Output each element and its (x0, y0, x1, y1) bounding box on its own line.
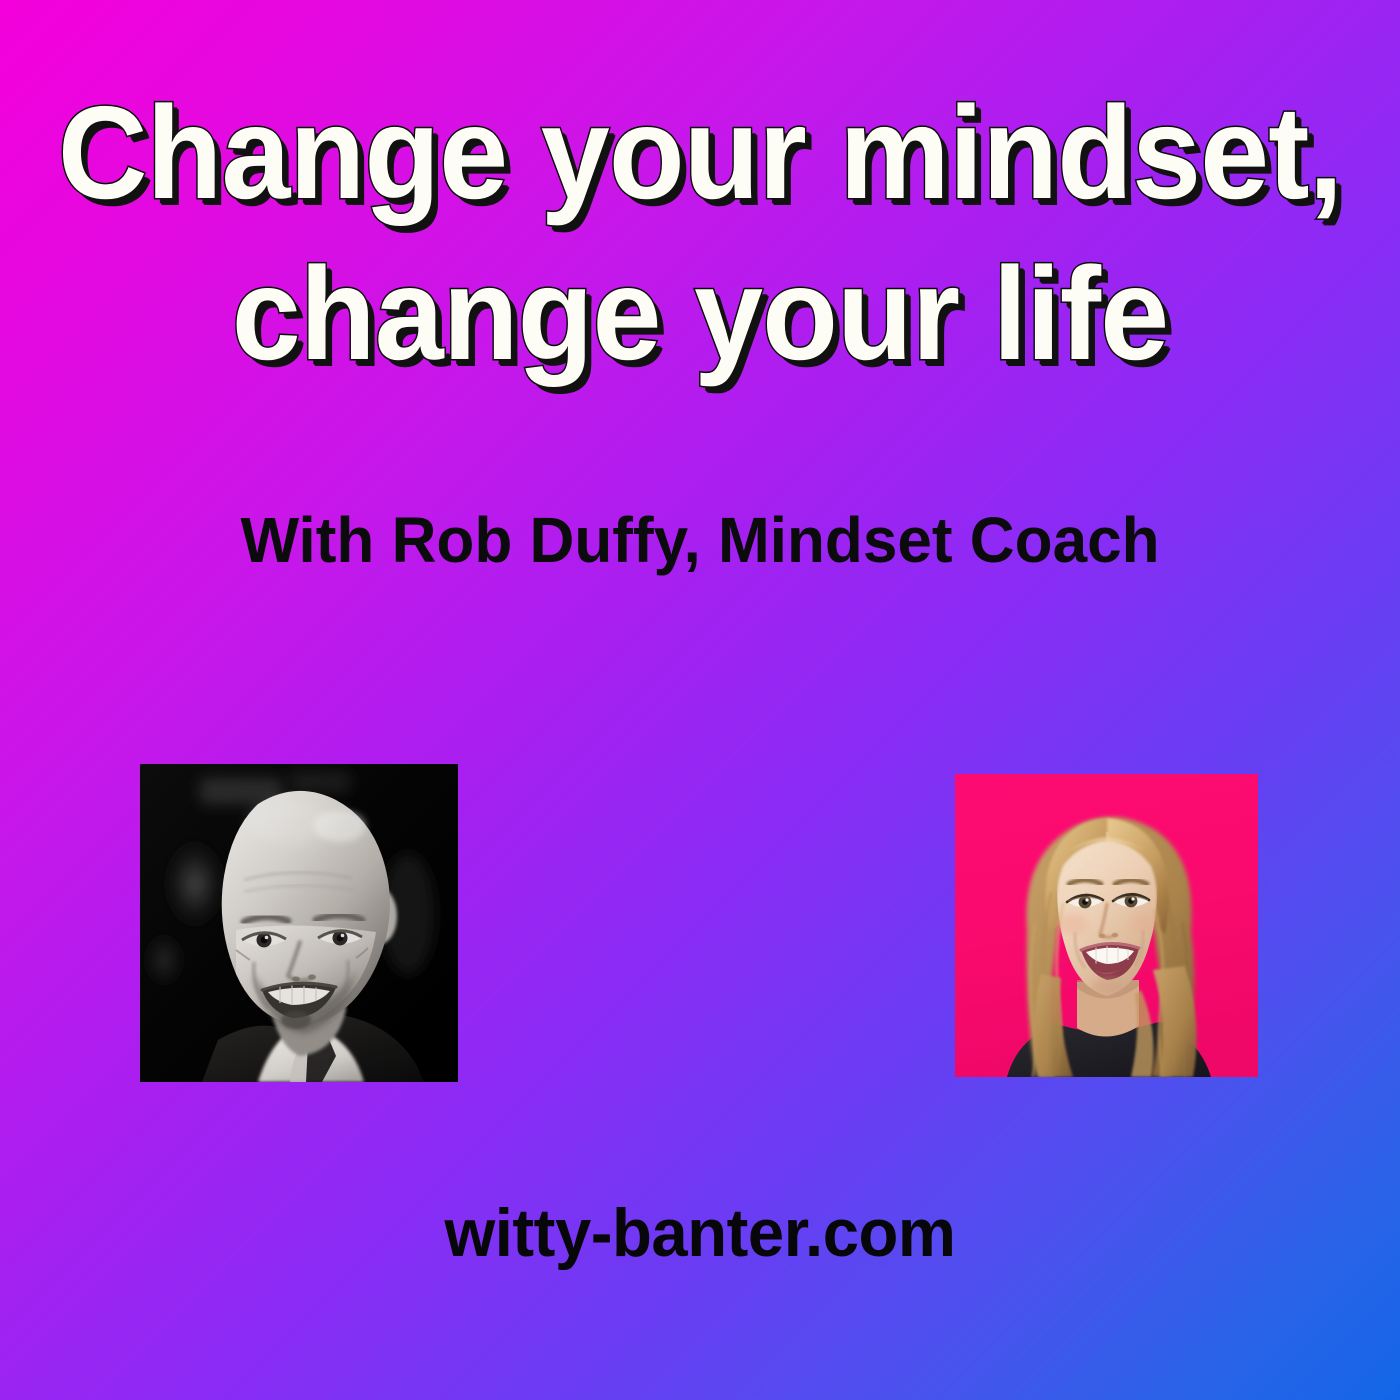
portrait-male-bw (140, 764, 458, 1082)
title-line-2: change your life (42, 233, 1358, 394)
portrait-female-colour (955, 774, 1258, 1077)
subtitle: With Rob Duffy, Mindset Coach (21, 505, 1379, 575)
host-photo (955, 774, 1258, 1077)
website-url: witty-banter.com (28, 1196, 1372, 1271)
title-line-1: Change your mindset, (42, 72, 1358, 233)
promo-poster: Change your mindset, change your life Wi… (0, 0, 1400, 1400)
page-title: Change your mindset, change your life (0, 72, 1400, 394)
guest-photo-rob-duffy (140, 764, 458, 1082)
